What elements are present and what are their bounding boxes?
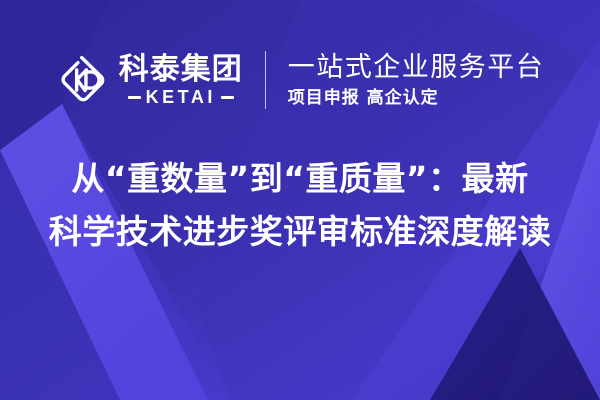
logo-wordmark: 科泰集团 KETAI [119,54,243,107]
tagline-main: 一站式企业服务平台 [288,52,545,83]
headline-line-2: 科学技术进步奖评审标准深度解读 [18,205,582,258]
ketai-diamond-kt-monogram-icon [56,53,110,107]
brand-tagline: 一站式企业服务平台 项目申报 高企认定 [266,52,545,108]
tagline-sub: 项目申报 高企认定 [288,88,545,108]
logo-english-row: KETAI [119,88,243,106]
logo-rule-left [128,96,141,99]
logo-rule-right [221,96,234,99]
promo-banner: 科泰集团 KETAI 一站式企业服务平台 项目申报 高企认定 从“重数量”到“重… [0,0,600,400]
page-title: 从“重数量”到“重质量”：最新 科学技术进步奖评审标准深度解读 [0,152,600,259]
logo-company-cn: 科泰集团 [119,54,243,86]
banner-header: 科泰集团 KETAI 一站式企业服务平台 项目申报 高企认定 [0,38,600,122]
brand-logo[interactable]: 科泰集团 KETAI [56,53,265,107]
headline-line-1: 从“重数量”到“重质量”：最新 [18,152,582,205]
logo-company-en: KETAI [146,88,216,106]
